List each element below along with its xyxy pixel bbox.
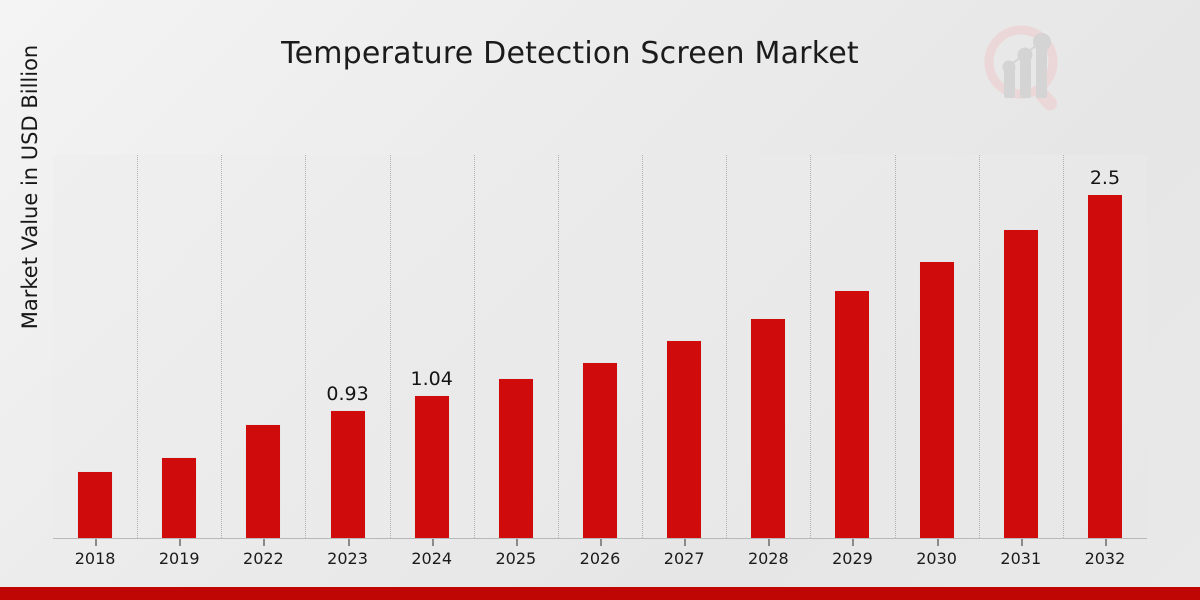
- bar-2024[interactable]: 1.04: [414, 155, 450, 538]
- bar-rect[interactable]: [77, 471, 113, 539]
- bar-2028[interactable]: [750, 155, 786, 538]
- x-axis-label-2025: 2025: [481, 549, 551, 568]
- bar-rect[interactable]: [750, 318, 786, 538]
- gridline: [558, 155, 559, 538]
- x-axis-label-2027: 2027: [649, 549, 719, 568]
- bar-rect[interactable]: [245, 424, 281, 538]
- bar-2019[interactable]: [161, 155, 197, 538]
- x-axis-label-2018: 2018: [60, 549, 130, 568]
- bar-value-label: 0.93: [326, 383, 368, 405]
- x-axis-tick: [852, 539, 854, 546]
- y-axis-title: Market Value in USD Billion: [18, 0, 42, 387]
- bar-rect[interactable]: [161, 457, 197, 538]
- gridline: [726, 155, 727, 538]
- bar-rect[interactable]: [666, 340, 702, 538]
- x-axis-label-2029: 2029: [817, 549, 887, 568]
- gridline: [895, 155, 896, 538]
- x-axis-tick: [432, 539, 434, 546]
- x-axis-tick: [937, 539, 939, 546]
- plot-area: 0.931.042.5: [53, 155, 1147, 539]
- gridline: [390, 155, 391, 538]
- page-title: Temperature Detection Screen Market: [0, 36, 1140, 71]
- x-axis-tick: [516, 539, 518, 546]
- bar-rect[interactable]: [919, 261, 955, 538]
- bar-2023[interactable]: 0.93: [330, 155, 366, 538]
- bar-rect[interactable]: [582, 362, 618, 538]
- x-axis-tick: [768, 539, 770, 546]
- bar-2030[interactable]: [919, 155, 955, 538]
- gridline: [1063, 155, 1064, 538]
- bar-2027[interactable]: [666, 155, 702, 538]
- gridline: [221, 155, 222, 538]
- x-axis-label-2024: 2024: [397, 549, 467, 568]
- bar-2022[interactable]: [245, 155, 281, 538]
- x-axis-label-2030: 2030: [902, 549, 972, 568]
- bar-rect[interactable]: [834, 290, 870, 538]
- bar-2029[interactable]: [834, 155, 870, 538]
- gridline: [137, 155, 138, 538]
- bar-value-label: 1.04: [411, 368, 453, 390]
- x-axis-tick: [95, 539, 97, 546]
- x-axis-tick: [684, 539, 686, 546]
- gridline: [810, 155, 811, 538]
- x-axis-label-2026: 2026: [565, 549, 635, 568]
- x-axis-tick: [1021, 539, 1023, 546]
- gridline: [474, 155, 475, 538]
- x-axis-tick: [1105, 539, 1107, 546]
- x-axis-label-2028: 2028: [733, 549, 803, 568]
- footer-band: [0, 587, 1200, 600]
- bar-2031[interactable]: [1003, 155, 1039, 538]
- bar-2025[interactable]: [498, 155, 534, 538]
- x-axis-tick: [263, 539, 265, 546]
- x-axis-label-2032: 2032: [1070, 549, 1140, 568]
- bar-rect[interactable]: [414, 395, 450, 538]
- bar-rect[interactable]: [498, 378, 534, 538]
- x-axis-label-2031: 2031: [986, 549, 1056, 568]
- x-axis-tick: [179, 539, 181, 546]
- x-axis-label-2022: 2022: [228, 549, 298, 568]
- bar-rect[interactable]: [1087, 194, 1123, 538]
- bar-2018[interactable]: [77, 155, 113, 538]
- bar-value-label: 2.5: [1090, 167, 1120, 189]
- gridline: [979, 155, 980, 538]
- gridline: [305, 155, 306, 538]
- x-axis-label-2023: 2023: [313, 549, 383, 568]
- chart-page: Temperature Detection Screen Market Mark…: [0, 0, 1200, 600]
- x-axis-label-2019: 2019: [144, 549, 214, 568]
- gridline: [642, 155, 643, 538]
- bar-2032[interactable]: 2.5: [1087, 155, 1123, 538]
- bar-rect[interactable]: [330, 410, 366, 538]
- x-axis-tick: [348, 539, 350, 546]
- bar-rect[interactable]: [1003, 229, 1039, 538]
- bar-2026[interactable]: [582, 155, 618, 538]
- x-axis-tick: [600, 539, 602, 546]
